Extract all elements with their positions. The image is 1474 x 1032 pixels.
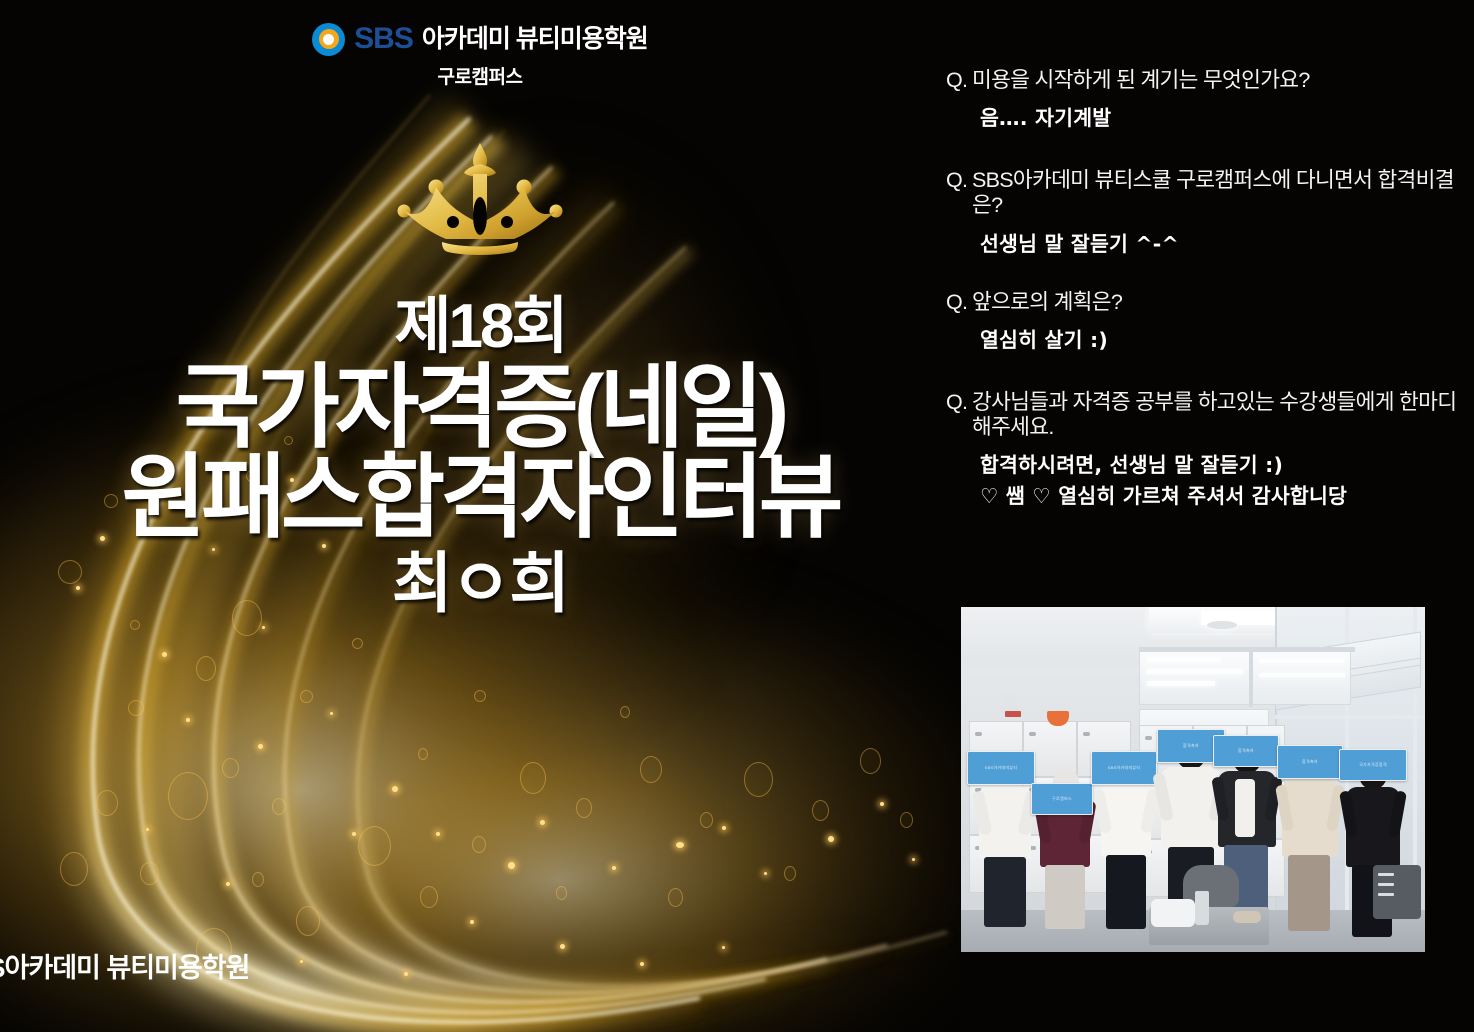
photo-content: SBS아카데미뷰티 구로캠퍼스 SBS아카데미뷰티: [961, 607, 1425, 952]
title-line-2: 원패스합격자인터뷰: [0, 452, 960, 544]
qa-item: Q. 미용을 시작하게 된 계기는 무엇인가요? 음…. 자기계발: [946, 68, 1466, 134]
photo-person: 합격축하: [1279, 751, 1343, 931]
group-photo-students: SBS아카데미뷰티 구로캠퍼스 SBS아카데미뷰티: [961, 607, 1425, 952]
qa-marker: Q.: [946, 68, 972, 93]
qa-question-row: Q. 강사님들과 자격증 공부를 하고있는 수강생들에게 한마디 해주세요.: [946, 390, 1466, 441]
qa-answer-text: 열심히 살기 :): [946, 325, 1466, 356]
photo-person: SBS아카데미뷰티: [975, 757, 1035, 927]
photo-fluorescent-tube: [1259, 673, 1345, 677]
campus-name: 구로캠퍼스: [0, 62, 960, 89]
photo-sign-text: 합격축하: [1238, 748, 1254, 754]
qa-item: Q. 앞으로의 계획은? 열심히 살기 :): [946, 290, 1466, 356]
photo-spray-bottle: [1195, 891, 1209, 925]
photo-sign-text: 국가자격증합격: [1359, 762, 1387, 768]
qa-answer-text: 합격하시려면, 선생님 말 잘듣기 :) ♡ 쌤 ♡ 열심히 가르쳐 주셔서 감…: [946, 450, 1466, 512]
photo-sign[interactable]: 구로캠퍼스: [1031, 783, 1093, 815]
photo-mullion: [1249, 647, 1253, 707]
sbs-circle-logo-icon: [312, 23, 345, 56]
photo-sign-text: 합격축하: [1183, 743, 1199, 749]
qa-marker: Q.: [946, 168, 972, 193]
poster-title: 제18회 국가자격증(네일) 원패스합격자인터뷰 최ㅇ희: [0, 296, 960, 616]
photo-person: SBS아카데미뷰티: [1097, 755, 1155, 929]
qa-question-row: Q. 미용을 시작하게 된 계기는 무엇인가요?: [946, 68, 1466, 93]
qa-answer-text: 선생님 말 잘듣기 ^-^: [946, 229, 1466, 260]
photo-sign-text: SBS아카데미뷰티: [985, 765, 1018, 771]
brand-logo-row: SBS 아카데미 뷰티미용학원: [0, 22, 960, 56]
photo-person-legs: [984, 857, 1026, 927]
qa-question-row: Q. SBS아카데미 뷰티스쿨 구로캠퍼스에 다니면서 합격비결은?: [946, 168, 1466, 219]
qa-item: Q. SBS아카데미 뷰티스쿨 구로캠퍼스에 다니면서 합격비결은? 선생님 말…: [946, 168, 1466, 259]
photo-sign-text: SBS아카데미뷰티: [1108, 765, 1141, 771]
qa-question-text: SBS아카데미 뷰티스쿨 구로캠퍼스에 다니면서 합격비결은?: [972, 168, 1466, 219]
photo-person-legs: [1045, 865, 1085, 929]
brand-mark-text: SBS: [354, 24, 413, 54]
photo-sign[interactable]: SBS아카데미뷰티: [967, 751, 1035, 785]
photo-fluorescent-tube: [1147, 669, 1243, 674]
photo-sign[interactable]: 합격축하: [1277, 745, 1343, 779]
qa-question-row: Q. 앞으로의 계획은?: [946, 290, 1466, 315]
qa-question-text: 강사님들과 자격증 공부를 하고있는 수강생들에게 한마디 해주세요.: [972, 390, 1466, 441]
photo-fluorescent-tube: [1259, 659, 1345, 663]
photo-sign[interactable]: 합격축하: [1213, 735, 1279, 767]
logo-inner-ring: [319, 29, 339, 49]
photo-sign[interactable]: SBS아카데미뷰티: [1091, 751, 1157, 785]
brand-korean-text: 아카데미 뷰티미용학원: [422, 27, 648, 52]
interview-qa-panel: Q. 미용을 시작하게 된 계기는 무엇인가요? 음…. 자기계발 Q. SBS…: [946, 68, 1466, 512]
logo-core-dot: [323, 34, 334, 45]
title-person-name: 최ㅇ희: [0, 550, 960, 616]
photo-sign-text: 합격축하: [1302, 759, 1318, 765]
crown-icon: [390, 140, 570, 260]
photo-chair-right: [1373, 865, 1421, 919]
photo-mullion: [1139, 647, 1355, 652]
photo-fluorescent-tube: [1147, 657, 1221, 662]
gold-haze-bottom: [240, 620, 960, 1032]
photo-mullion: [1275, 715, 1425, 719]
photo-person-legs: [1288, 855, 1330, 931]
photo-person-scarf: [1235, 779, 1255, 837]
photo-towel-roll: [1233, 911, 1261, 923]
title-edition: 제18회: [0, 296, 960, 358]
qa-answer-text: 음…. 자기계발: [946, 103, 1466, 134]
photo-towel: [1151, 899, 1195, 927]
qa-question-text: 미용을 시작하게 된 계기는 무엇인가요?: [972, 68, 1466, 93]
poster-canvas: SBS 아카데미 뷰티미용학원 구로캠퍼스: [0, 0, 1474, 1032]
qa-marker: Q.: [946, 290, 972, 315]
photo-sign[interactable]: 국가자격증합격: [1339, 749, 1407, 781]
crown-emblem: [0, 140, 960, 265]
photo-fluorescent-tube: [1147, 681, 1215, 686]
photo-sign-text: 구로캠퍼스: [1052, 796, 1072, 802]
photo-ceiling-vent: [1207, 621, 1237, 629]
brand-header: SBS 아카데미 뷰티미용학원 구로캠퍼스: [0, 22, 960, 89]
qa-item: Q. 강사님들과 자격증 공부를 하고있는 수강생들에게 한마디 해주세요. 합…: [946, 390, 1466, 512]
photo-person: 구로캠퍼스: [1037, 769, 1093, 929]
title-line-1: 국가자격증(네일): [0, 362, 960, 454]
photo-person-legs: [1106, 855, 1146, 929]
qa-question-text: 앞으로의 계획은?: [972, 290, 1466, 315]
qa-marker: Q.: [946, 390, 972, 415]
bottom-left-watermark: SBS아카데미 뷰티미용학원: [0, 946, 249, 985]
